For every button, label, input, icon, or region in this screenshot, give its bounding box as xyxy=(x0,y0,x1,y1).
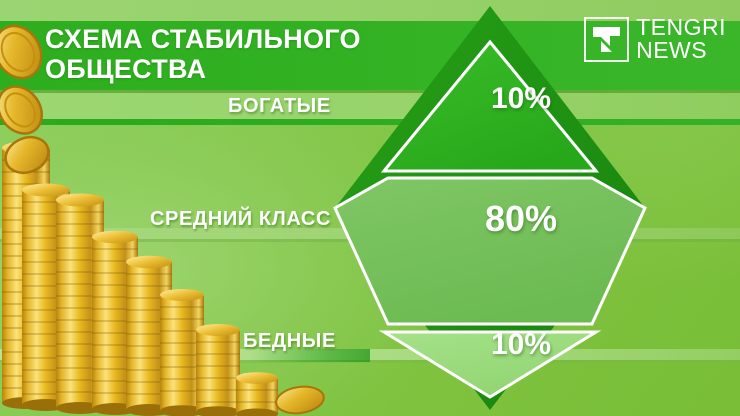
tier-label-rich: БОГАТЫЕ xyxy=(228,95,331,118)
tier-percent-middle: 80% xyxy=(441,198,601,240)
loose-coin-2 xyxy=(0,78,51,142)
tengri-t-mark-icon xyxy=(584,17,629,62)
tier-label-poor: БЕДНЫЕ xyxy=(243,330,336,353)
tier-label-middle: СРЕДНИЙ КЛАСС xyxy=(150,208,331,231)
tier-percent-rich: 10% xyxy=(461,82,581,116)
infographic-canvas: СХЕМА СТАБИЛЬНОГО ОБЩЕСТВА БОГАТЫЕ СРЕДН… xyxy=(0,0,740,416)
loose-coin-4 xyxy=(274,384,325,416)
coin-stack-8 xyxy=(236,372,278,416)
coin-stack-7 xyxy=(196,324,240,416)
tier-percent-poor: 10% xyxy=(461,328,581,362)
logo-wordmark: TENGRI NEWS xyxy=(636,16,726,62)
loose-coin-1 xyxy=(0,18,50,86)
logo-line-2: NEWS xyxy=(636,39,726,62)
logo-line-1: TENGRI xyxy=(636,16,726,39)
tengri-news-logo[interactable]: TENGRI NEWS xyxy=(584,16,726,62)
